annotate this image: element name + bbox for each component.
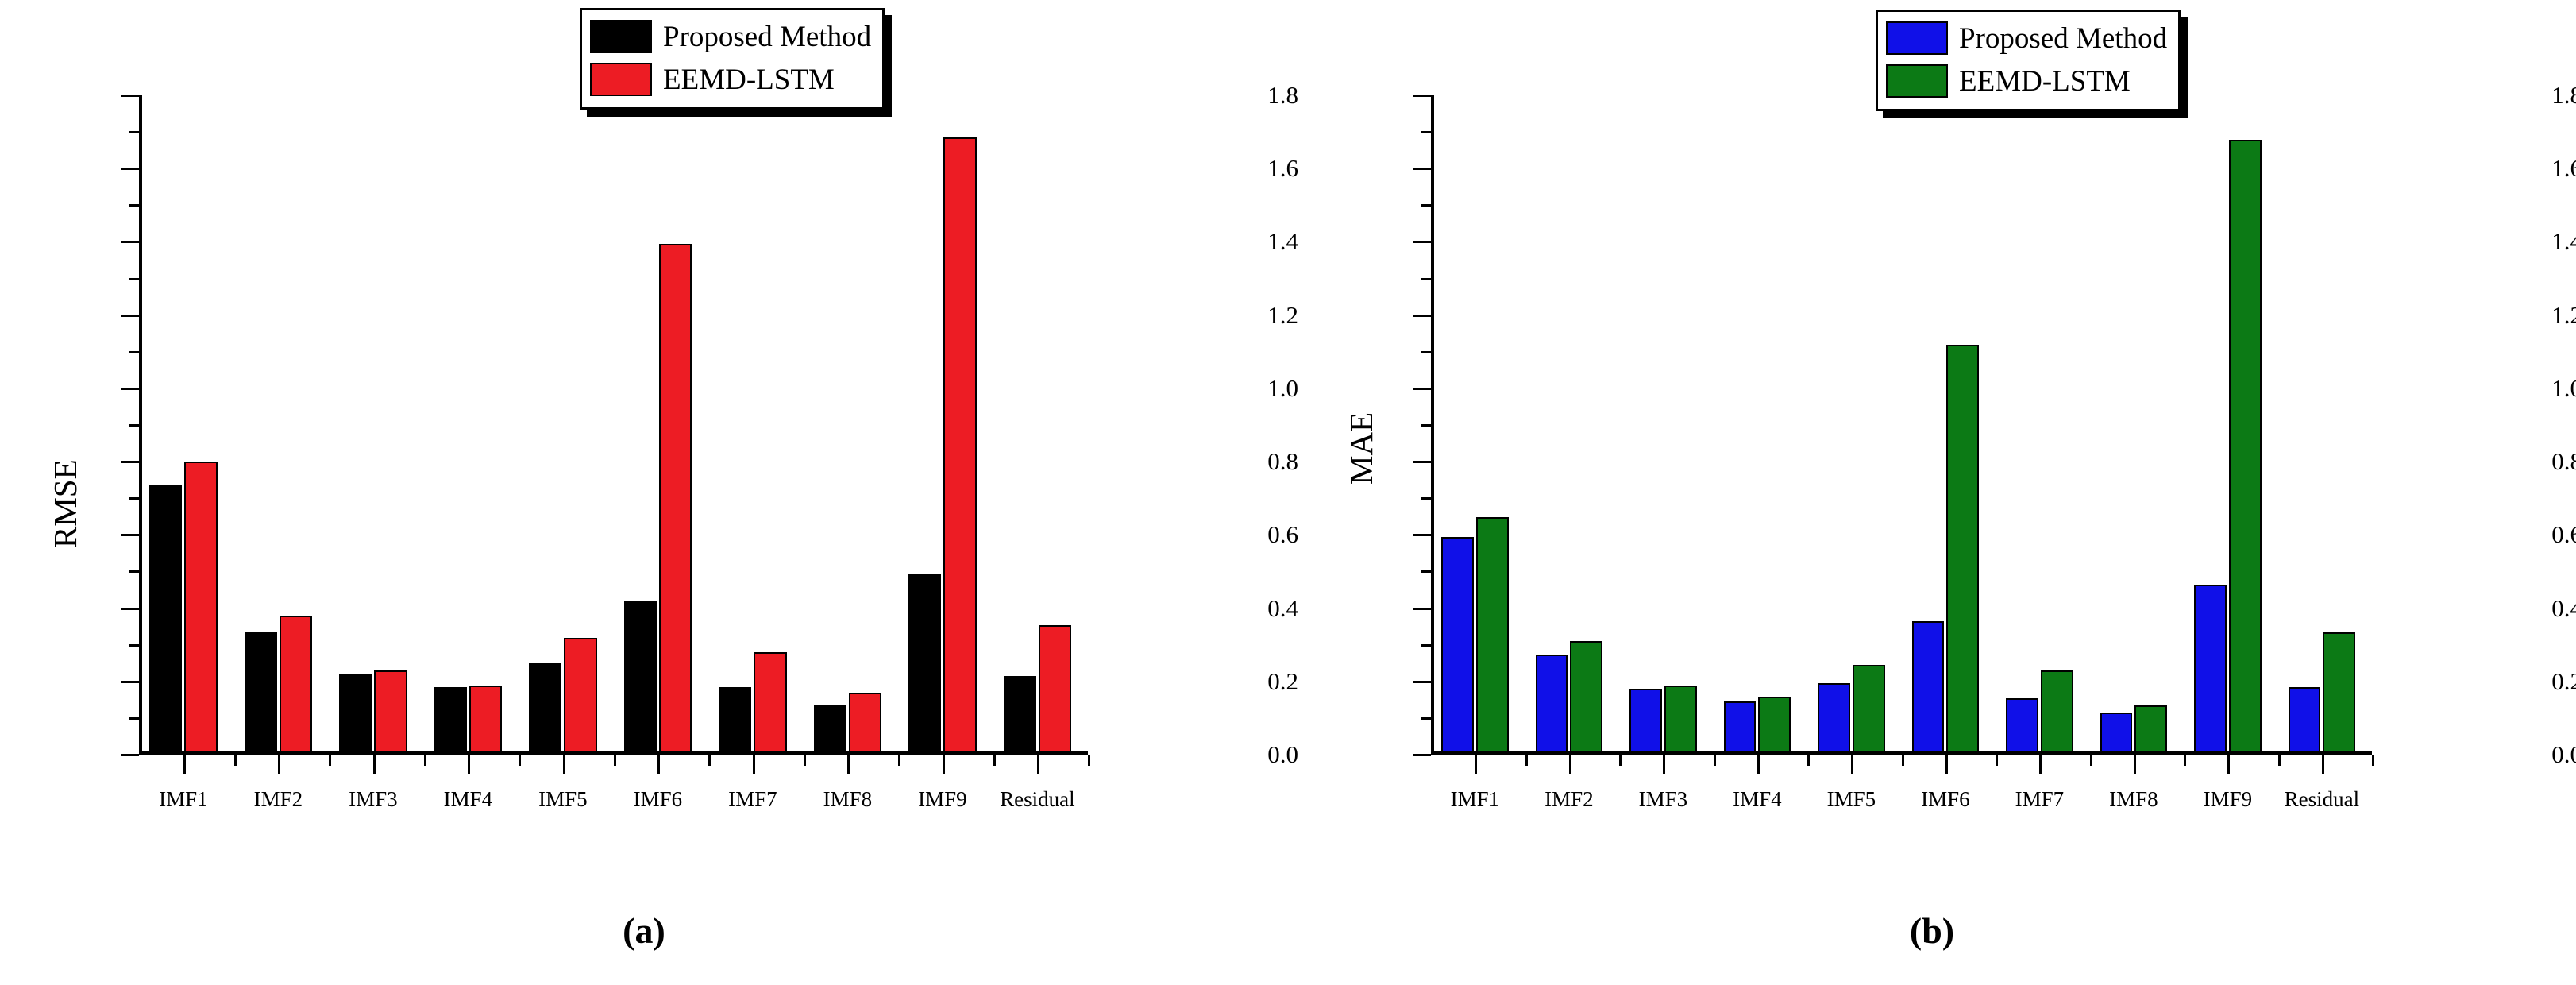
x-tick-major (1945, 755, 1948, 774)
figure-row: Proposed MethodEEMD-LSTM 0.00.20.40.60.8… (0, 0, 2576, 985)
y-tick-minor (129, 497, 139, 500)
legend-panel-a: Proposed MethodEEMD-LSTM (580, 8, 885, 110)
bar (1004, 676, 1036, 753)
x-tick-label: IMF4 (444, 787, 493, 812)
x-tick-minor (898, 755, 900, 766)
x-tick-major (847, 755, 850, 774)
bar (1724, 701, 1757, 753)
bar (908, 574, 941, 753)
y-tick-minor (1421, 644, 1431, 647)
x-tick-minor (993, 755, 996, 766)
y-tick-minor (129, 204, 139, 207)
legend-label: EEMD-LSTM (1959, 64, 2131, 98)
y-tick-minor (1421, 570, 1431, 573)
x-tick-label: IMF6 (634, 787, 683, 812)
y-tick-major (121, 241, 139, 243)
bar (849, 693, 881, 753)
bar (374, 670, 407, 753)
y-tick-minor (1421, 717, 1431, 720)
y-tick-major (1413, 534, 1431, 536)
legend-label: Proposed Method (663, 20, 871, 54)
legend-item: Proposed Method (590, 15, 871, 58)
x-tick-major (2227, 755, 2230, 774)
bar (1476, 517, 1509, 753)
x-tick-label: IMF1 (1451, 787, 1500, 812)
bar (1818, 683, 1850, 753)
x-tick-label: IMF9 (2204, 787, 2253, 812)
x-tick-major (1037, 755, 1039, 774)
subcaption-a: (a) (0, 910, 1288, 952)
x-tick-label: IMF7 (728, 787, 777, 812)
x-tick-minor (329, 755, 331, 766)
bar (469, 686, 502, 753)
y-tick-major (1413, 168, 1431, 170)
x-tick-major (2134, 755, 2136, 774)
bar (1946, 345, 1979, 753)
y-axis-line-a (139, 95, 142, 755)
bar (184, 462, 217, 753)
legend-swatch-eemd-lstm (590, 63, 652, 96)
y-tick-label: 1.6 (2551, 154, 2576, 183)
x-tick-major (1851, 755, 1853, 774)
x-tick-label: IMF3 (349, 787, 398, 812)
y-tick-label: 1.0 (2551, 374, 2576, 403)
x-tick-minor (614, 755, 616, 766)
y-tick-major (121, 534, 139, 536)
x-tick-minor (1996, 755, 1998, 766)
y-tick-minor (1421, 131, 1431, 133)
x-tick-major (468, 755, 470, 774)
x-tick-major (373, 755, 376, 774)
bar (1441, 537, 1474, 753)
x-tick-minor (1902, 755, 1904, 766)
y-tick-minor (1421, 278, 1431, 280)
x-tick-label: IMF8 (2109, 787, 2158, 812)
x-tick-label: IMF7 (2015, 787, 2065, 812)
x-tick-major (1663, 755, 1665, 774)
legend-item: Proposed Method (1886, 17, 2167, 60)
x-tick-minor (2372, 755, 2374, 766)
x-tick-label: IMF9 (918, 787, 967, 812)
x-tick-minor (804, 755, 806, 766)
x-tick-label: IMF2 (1544, 787, 1594, 812)
x-tick-label: Residual (1000, 787, 1075, 812)
x-tick-minor (1807, 755, 1810, 766)
legend-item: EEMD-LSTM (590, 58, 871, 101)
x-tick-label: IMF1 (159, 787, 208, 812)
x-tick-major (2039, 755, 2042, 774)
x-tick-major (657, 755, 660, 774)
x-tick-minor (519, 755, 521, 766)
x-tick-minor (2090, 755, 2092, 766)
y-tick-label: 1.2 (2551, 301, 2576, 330)
y-tick-label: 0.2 (2551, 667, 2576, 696)
y-tick-label: 0.8 (2551, 447, 2576, 476)
bar (2289, 687, 2321, 753)
bar (1039, 625, 1071, 753)
subcaption-b: (b) (1288, 910, 2576, 952)
bar (245, 632, 277, 753)
y-tick-major (121, 168, 139, 170)
x-tick-major (1569, 755, 1571, 774)
chart-panel-a: Proposed MethodEEMD-LSTM 0.00.20.40.60.8… (0, 0, 1288, 985)
bar (564, 638, 596, 753)
x-tick-major (278, 755, 280, 774)
x-tick-label: IMF3 (1639, 787, 1688, 812)
chart-panel-b: Proposed MethodEEMD-LSTM 0.00.20.40.60.8… (1288, 0, 2576, 985)
x-tick-minor (1525, 755, 1528, 766)
bar (2100, 713, 2133, 753)
x-tick-minor (2278, 755, 2281, 766)
y-tick-label: 0.6 (2551, 520, 2576, 549)
y-tick-minor (1421, 497, 1431, 500)
bar (1853, 665, 1885, 753)
y-tick-major (1413, 681, 1431, 683)
y-tick-major (1413, 388, 1431, 390)
x-tick-minor (2184, 755, 2186, 766)
x-tick-minor (234, 755, 237, 766)
y-tick-minor (129, 424, 139, 427)
bar (280, 616, 312, 753)
bar (2323, 632, 2355, 753)
y-tick-minor (129, 644, 139, 647)
legend-swatch-eemd-lstm (1886, 64, 1948, 98)
y-axis-line-b (1431, 95, 1434, 755)
legend-swatch-proposed-method (590, 20, 652, 53)
x-tick-major (943, 755, 945, 774)
y-tick-label: 1.8 (2551, 81, 2576, 110)
x-tick-minor (424, 755, 426, 766)
bar (814, 705, 846, 753)
x-tick-minor (1714, 755, 1716, 766)
y-tick-major (1413, 315, 1431, 317)
y-axis-title-a: RMSE (46, 459, 84, 548)
bar (1758, 697, 1791, 753)
y-tick-major (121, 681, 139, 683)
bar (1570, 641, 1602, 753)
x-tick-major (563, 755, 565, 774)
y-tick-major (121, 754, 139, 756)
x-tick-label: IMF5 (538, 787, 588, 812)
x-tick-major (2322, 755, 2324, 774)
y-tick-major (1413, 608, 1431, 610)
y-tick-label: 0.4 (2551, 594, 2576, 623)
y-tick-major (121, 388, 139, 390)
bar (1912, 621, 1945, 753)
bar (2041, 670, 2073, 753)
bar (1536, 655, 1568, 754)
x-tick-major (1475, 755, 1477, 774)
bar (149, 485, 182, 753)
y-tick-major (121, 315, 139, 317)
bar (2134, 705, 2167, 753)
bar (624, 601, 657, 753)
x-tick-minor (1619, 755, 1622, 766)
x-tick-minor (1088, 755, 1090, 766)
legend-swatch-proposed-method (1886, 21, 1948, 55)
y-tick-minor (129, 351, 139, 353)
bar (529, 663, 561, 753)
x-tick-label: IMF4 (1733, 787, 1782, 812)
x-tick-major (753, 755, 755, 774)
x-tick-label: Residual (2285, 787, 2360, 812)
plot-area-b: 0.00.20.40.60.81.01.21.41.61.8IMF1IMF2IM… (1431, 95, 2576, 755)
y-tick-minor (129, 131, 139, 133)
y-tick-minor (1421, 351, 1431, 353)
bar (2006, 698, 2038, 753)
x-tick-label: IMF8 (823, 787, 873, 812)
bar (434, 687, 467, 753)
y-tick-major (121, 95, 139, 97)
bar (719, 687, 751, 753)
y-tick-major (121, 461, 139, 463)
x-tick-major (1757, 755, 1760, 774)
x-tick-label: IMF2 (254, 787, 303, 812)
bar (659, 244, 692, 753)
plot-area-a: 0.00.20.40.60.81.01.21.41.61.8IMF1IMF2IM… (139, 95, 1322, 755)
x-tick-minor (708, 755, 711, 766)
y-tick-minor (1421, 424, 1431, 427)
y-tick-label: 0.0 (2551, 740, 2576, 769)
bar (339, 674, 372, 753)
bar (2194, 585, 2227, 753)
y-tick-major (1413, 95, 1431, 97)
bar (1629, 689, 1662, 753)
y-tick-major (1413, 754, 1431, 756)
y-tick-label: 1.4 (2551, 227, 2576, 256)
y-tick-minor (129, 278, 139, 280)
x-tick-label: IMF5 (1827, 787, 1876, 812)
x-tick-label: IMF6 (1921, 787, 1970, 812)
y-tick-major (121, 608, 139, 610)
y-tick-minor (129, 570, 139, 573)
y-axis-title-b: MAE (1342, 412, 1380, 485)
bar (754, 652, 786, 753)
y-tick-major (1413, 241, 1431, 243)
bar (2229, 140, 2262, 753)
y-tick-minor (129, 717, 139, 720)
bar (1664, 686, 1697, 753)
x-tick-major (183, 755, 186, 774)
y-tick-minor (1421, 204, 1431, 207)
legend-label: Proposed Method (1959, 21, 2167, 56)
bar (943, 137, 976, 753)
legend-label: EEMD-LSTM (663, 63, 835, 97)
y-tick-major (1413, 461, 1431, 463)
